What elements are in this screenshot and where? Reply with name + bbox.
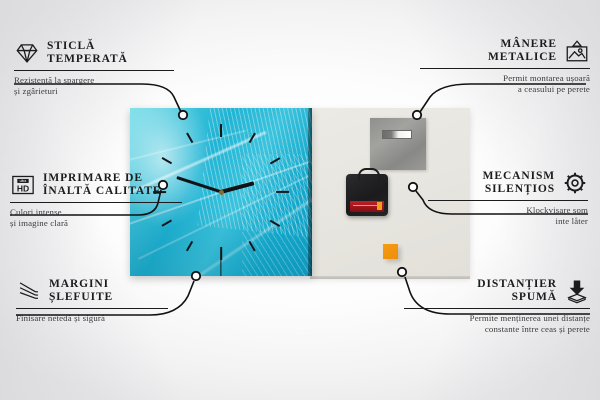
gear-icon <box>562 170 588 196</box>
feature-title: IMPRIMARE DE ÎNALTĂ CALITATE <box>43 172 161 198</box>
feature-title: DISTANȚIER SPUMĂ <box>477 278 557 304</box>
diamond-icon <box>14 40 40 66</box>
feature-subtitle: Klockvisare som inte låter <box>428 205 588 226</box>
feature-divider <box>404 308 590 309</box>
feature-title: MÂNERE METALICE <box>488 38 557 64</box>
battery <box>350 201 384 212</box>
feature-header: ultra HD IMPRIMARE DE ÎNALTĂ CALITATE <box>10 172 182 198</box>
svg-text:ultra: ultra <box>20 179 27 183</box>
hand-center-cap <box>219 190 224 195</box>
feature-foam-spacer: DISTANȚIER SPUMĂ Permite menținerea unei… <box>404 278 590 335</box>
feature-divider <box>428 200 588 201</box>
feature-subtitle: Culori intense și imagine clară <box>10 207 182 228</box>
feature-metal-hangers: MÂNERE METALICE Permit montarea ușoară a… <box>420 38 590 95</box>
feature-tempered-glass: STICLĂ TEMPERATĂ Rezistentă la spargere … <box>14 40 174 97</box>
feature-subtitle: Finisare netedă și sigură <box>16 313 168 324</box>
feature-header: MARGINI ȘLEFUITE <box>16 278 168 304</box>
clock-tick <box>276 191 289 193</box>
hanger-slot <box>382 130 412 139</box>
feature-title: MECANISM SILENȚIOS <box>483 170 555 196</box>
foam-spacer-piece <box>383 244 398 259</box>
feature-silent-mechanism: MECANISM SILENȚIOS Klockvisare som inte … <box>428 170 588 227</box>
feature-header: STICLĂ TEMPERATĂ <box>14 40 174 66</box>
feature-subtitle: Permit montarea ușoară a ceasului pe per… <box>420 73 590 94</box>
feature-header: DISTANȚIER SPUMĂ <box>404 278 590 304</box>
metal-hanger-plate <box>370 118 426 170</box>
glass-right-edge <box>308 108 312 276</box>
down-arrow-pad-icon <box>564 278 590 304</box>
feature-title: STICLĂ TEMPERATĂ <box>47 40 128 66</box>
feature-divider <box>10 202 182 203</box>
clock-movement <box>346 174 388 216</box>
ultra-hd-icon: ultra HD <box>10 172 36 198</box>
feature-polished-edges: MARGINI ȘLEFUITE Finisare netedă și sigu… <box>16 278 168 324</box>
feature-divider <box>14 70 174 71</box>
feature-divider <box>420 68 590 69</box>
feature-subtitle: Permite menținerea unei distanțe constan… <box>404 313 590 334</box>
movement-hanging-loop <box>358 168 380 180</box>
feature-title: MARGINI ȘLEFUITE <box>49 278 113 304</box>
polished-edges-icon <box>16 278 42 304</box>
feature-divider <box>16 308 168 309</box>
clock-tick <box>220 124 222 137</box>
feature-header: MÂNERE METALICE <box>420 38 590 64</box>
infographic-canvas: STICLĂ TEMPERATĂ Rezistentă la spargere … <box>0 0 600 400</box>
feature-header: MECANISM SILENȚIOS <box>428 170 588 196</box>
feature-subtitle: Rezistentă la spargere și zgârieturi <box>14 75 174 96</box>
svg-text:HD: HD <box>17 184 29 194</box>
feature-high-quality-print: ultra HD IMPRIMARE DE ÎNALTĂ CALITATE Cu… <box>10 172 182 229</box>
wall-hanger-icon <box>564 38 590 64</box>
battery-label-line <box>353 205 377 206</box>
